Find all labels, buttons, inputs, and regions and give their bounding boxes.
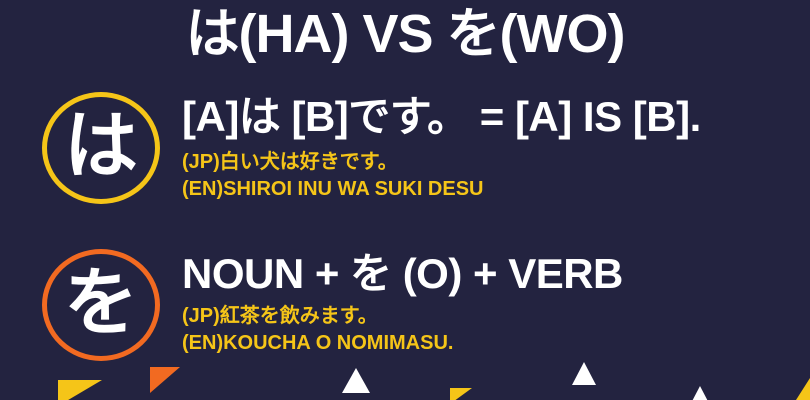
triangle-yellow-small: [450, 388, 472, 400]
triangle-white-up-left: [342, 368, 370, 393]
triangle-yellow-bottom-left: [58, 380, 102, 400]
section-wo-text: NOUN + を (O) + VERB (JP)紅茶を飲みます。 (EN)KOU…: [182, 249, 810, 356]
formula-wo: NOUN + を (O) + VERB: [182, 251, 810, 296]
section-wo: を NOUN + を (O) + VERB (JP)紅茶を飲みます。 (EN)K…: [0, 249, 810, 361]
triangle-yellow-edge-right: [796, 378, 810, 400]
formula-ha: [A]は [B]です。 = [A] IS [B].: [182, 94, 810, 139]
section-ha-text: [A]は [B]です。 = [A] IS [B]. (JP)白い犬は好きです。 …: [182, 92, 810, 202]
badge-ha: は: [42, 92, 160, 204]
example-wo-jp: (JP)紅茶を飲みます。: [182, 303, 810, 329]
triangle-white-up-right: [572, 362, 596, 385]
badge-wo: を: [42, 249, 160, 361]
example-ha-jp: (JP)白い犬は好きです。: [182, 149, 810, 175]
page-title: は(HA) VS を(WO): [0, 6, 810, 63]
infographic-canvas: は(HA) VS を(WO) は [A]は [B]です。 = [A] IS [B…: [0, 0, 810, 400]
triangle-white-up-far-right: [688, 386, 712, 400]
example-ha-en: (EN)SHIROI INU WA SUKI DESU: [182, 176, 810, 202]
badge-wo-char: を: [64, 266, 138, 340]
example-wo-en: (EN)KOUCHA O NOMIMASU.: [182, 330, 810, 356]
badge-ha-char: は: [64, 109, 138, 183]
triangle-orange-down-left: [150, 367, 180, 393]
section-ha: は [A]は [B]です。 = [A] IS [B]. (JP)白い犬は好きです…: [0, 92, 810, 204]
